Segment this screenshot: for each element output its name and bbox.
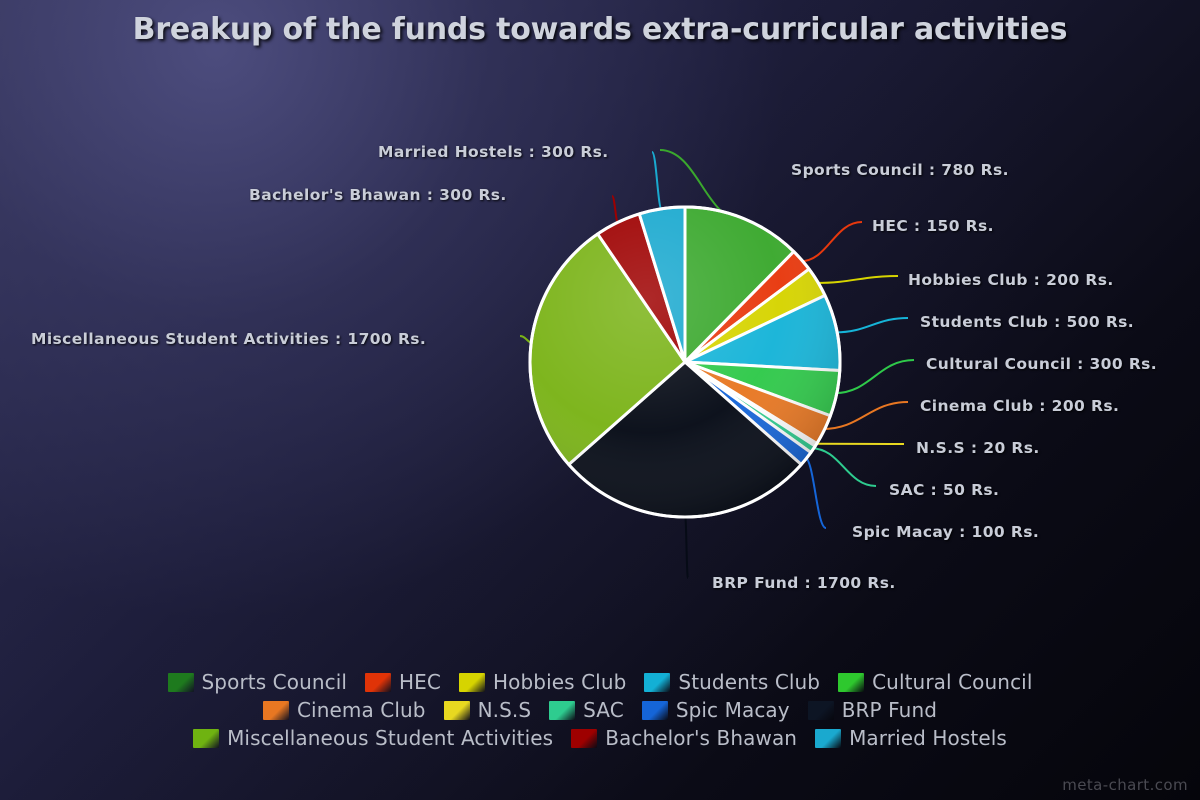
legend-item[interactable]: Married Hostels — [815, 726, 1007, 750]
legend-label: BRP Fund — [842, 698, 937, 722]
legend-swatch-icon — [263, 701, 289, 720]
legend-row: Miscellaneous Student ActivitiesBachelor… — [8, 724, 1192, 752]
legend-label: Students Club — [678, 670, 820, 694]
leader-lines-group — [520, 150, 914, 578]
pie-outer-ring — [530, 207, 840, 517]
legend-item[interactable]: SAC — [549, 698, 624, 722]
leader-line — [835, 360, 914, 393]
callout-hobbies-club: Hobbies Club : 200 Rs. — [908, 271, 1114, 289]
pie-shading-overlay — [530, 207, 840, 517]
pie-slice[interactable] — [598, 214, 685, 362]
legend-swatch-icon — [808, 701, 834, 720]
legend-swatch-icon — [365, 673, 391, 692]
pie-slice[interactable] — [685, 207, 794, 362]
legend-item[interactable]: Sports Council — [168, 670, 348, 694]
leader-line — [835, 318, 908, 332]
legend-swatch-icon — [168, 673, 194, 692]
leader-line — [823, 402, 909, 429]
callout-married-hostels: Married Hostels : 300 Rs. — [378, 143, 609, 161]
leader-line — [800, 222, 862, 261]
leader-line — [652, 152, 662, 211]
chart-title: Breakup of the funds towards extra-curri… — [0, 12, 1200, 47]
legend-swatch-icon — [549, 701, 575, 720]
leader-line — [685, 515, 688, 578]
legend-item[interactable]: N.S.S — [444, 698, 532, 722]
pie-chart-page: Breakup of the funds towards extra-curri… — [0, 0, 1200, 800]
leader-line — [816, 276, 898, 283]
watermark: meta-chart.com — [1062, 776, 1188, 794]
legend-item[interactable]: Cultural Council — [838, 670, 1032, 694]
pie-slice[interactable] — [569, 362, 801, 517]
callout-hec: HEC : 150 Rs. — [872, 217, 994, 235]
pie-slice[interactable] — [685, 295, 840, 370]
legend-item[interactable]: Cinema Club — [263, 698, 426, 722]
legend-swatch-icon — [642, 701, 668, 720]
callout-misc-student-activities: Miscellaneous Student Activities : 1700 … — [31, 330, 426, 348]
legend-swatch-icon — [459, 673, 485, 692]
legend-label: Married Hostels — [849, 726, 1007, 750]
leader-line — [660, 150, 743, 220]
callout-cultural-council: Cultural Council : 300 Rs. — [926, 355, 1157, 373]
legend-swatch-icon — [815, 729, 841, 748]
pie-slice[interactable] — [530, 234, 685, 465]
legend-label: Cultural Council — [872, 670, 1032, 694]
legend-swatch-icon — [644, 673, 670, 692]
leader-line — [805, 457, 826, 528]
callout-sports-council: Sports Council : 780 Rs. — [791, 161, 1009, 179]
legend-item[interactable]: BRP Fund — [808, 698, 937, 722]
legend-row: Sports CouncilHECHobbies ClubStudents Cl… — [8, 668, 1192, 696]
pie-slice[interactable] — [685, 252, 809, 362]
pie-slices-group — [530, 207, 840, 517]
leader-line — [612, 196, 619, 224]
leader-line — [520, 336, 533, 343]
legend-swatch-icon — [193, 729, 219, 748]
pie-slice[interactable] — [685, 269, 825, 362]
legend-item[interactable]: Bachelor's Bhawan — [571, 726, 797, 750]
chart-legend: Sports CouncilHECHobbies ClubStudents Cl… — [0, 668, 1200, 752]
legend-label: SAC — [583, 698, 624, 722]
legend-swatch-icon — [444, 701, 470, 720]
legend-label: Bachelor's Bhawan — [605, 726, 797, 750]
legend-item[interactable]: Spic Macay — [642, 698, 790, 722]
callout-sac: SAC : 50 Rs. — [889, 481, 999, 499]
callout-bachelors-bhawan: Bachelor's Bhawan : 300 Rs. — [249, 186, 507, 204]
legend-label: Hobbies Club — [493, 670, 626, 694]
leader-line — [811, 448, 876, 486]
callout-brp-fund: BRP Fund : 1700 Rs. — [712, 574, 896, 592]
pie-slice[interactable] — [685, 362, 830, 443]
callout-students-club: Students Club : 500 Rs. — [920, 313, 1134, 331]
legend-swatch-icon — [838, 673, 864, 692]
callout-nss: N.S.S : 20 Rs. — [916, 439, 1040, 457]
callout-cinema-club: Cinema Club : 200 Rs. — [920, 397, 1119, 415]
legend-label: N.S.S — [478, 698, 532, 722]
legend-swatch-icon — [571, 729, 597, 748]
legend-label: HEC — [399, 670, 441, 694]
pie-slice[interactable] — [639, 207, 685, 362]
legend-label: Sports Council — [202, 670, 348, 694]
pie-slice[interactable] — [685, 362, 815, 452]
legend-label: Miscellaneous Student Activities — [227, 726, 553, 750]
pie-slice[interactable] — [685, 362, 817, 446]
callout-spic-macay: Spic Macay : 100 Rs. — [852, 523, 1039, 541]
legend-item[interactable]: Miscellaneous Student Activities — [193, 726, 553, 750]
legend-row: Cinema ClubN.S.SSACSpic MacayBRP Fund — [8, 696, 1192, 724]
legend-item[interactable]: HEC — [365, 670, 441, 694]
legend-item[interactable]: Students Club — [644, 670, 820, 694]
pie-slice[interactable] — [685, 362, 840, 416]
legend-label: Cinema Club — [297, 698, 426, 722]
pie-slice[interactable] — [685, 362, 811, 465]
legend-label: Spic Macay — [676, 698, 790, 722]
legend-item[interactable]: Hobbies Club — [459, 670, 626, 694]
